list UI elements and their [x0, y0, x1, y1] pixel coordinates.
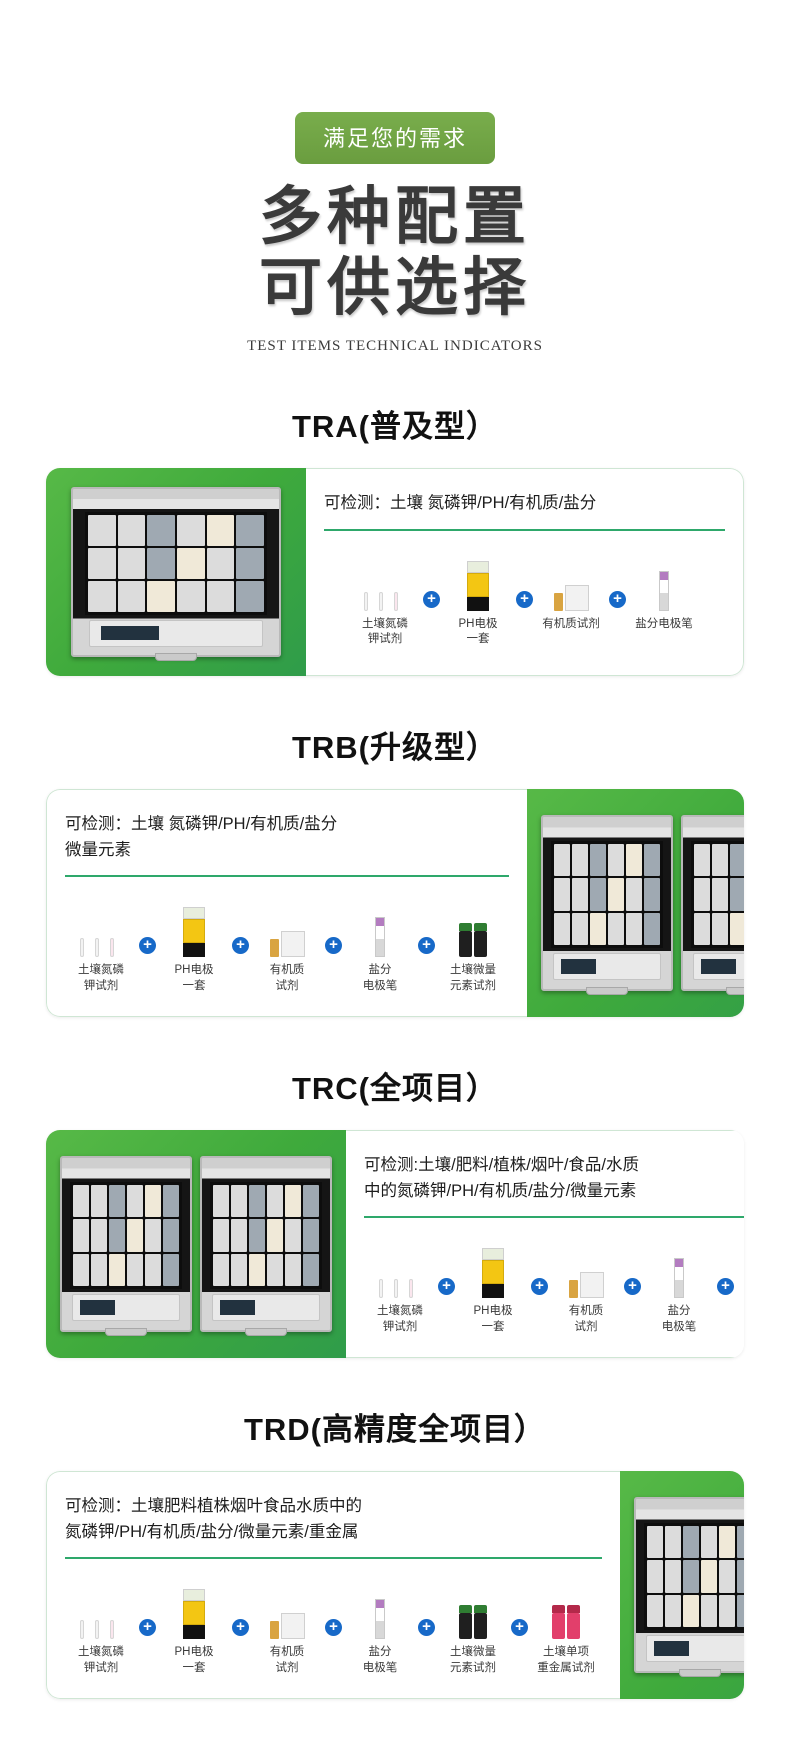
three-bottles-icon [80, 939, 123, 957]
case-slot [719, 1560, 735, 1592]
product-info-pane: 可检测:土壤/肥料/植株/烟叶/食品/水质 中的氮磷钾/PH/有机质/盐分/微量… [346, 1130, 744, 1358]
kit-item: 土壤氮磷 钾试剂 [349, 549, 421, 648]
plus-icon: + [139, 937, 156, 954]
case-slot [236, 515, 264, 546]
detection-description: 可检测：土壤肥料植株烟叶食品水质中的 氮磷钾/PH/有机质/盐分/微量元素/重金… [65, 1494, 602, 1557]
case-slot [177, 515, 205, 546]
kit-item-image [80, 895, 123, 957]
case-slot [626, 844, 642, 876]
case-slot [719, 1526, 735, 1558]
case-slot [127, 1185, 143, 1217]
case-slot [127, 1254, 143, 1286]
case-slot [608, 844, 624, 876]
case-slot [267, 1254, 283, 1286]
case-slot [303, 1219, 319, 1251]
plus-icon: + [624, 1278, 641, 1295]
case-handle [586, 987, 628, 995]
kit-item-label: 盐分 电极笔 [363, 1645, 398, 1676]
instrument-case-photo [541, 815, 673, 991]
ph-electrode-icon [183, 907, 205, 957]
kit-item-image [459, 895, 487, 957]
section-title-trd: TRD(高精度全项目） [0, 1404, 790, 1449]
case-slot [608, 913, 624, 945]
section-title-trc: TRC(全项目） [0, 1063, 790, 1108]
case-slot [231, 1254, 247, 1286]
case-slot [554, 913, 570, 945]
case-slot [730, 878, 744, 910]
kit-item-label: 土壤氮磷 钾试剂 [362, 617, 408, 648]
case-slot [590, 844, 606, 876]
kit-item-image [674, 1236, 684, 1298]
plus-icon: + [139, 1619, 156, 1636]
case-slot [683, 1595, 699, 1627]
page-title-line1: 多种配置 [259, 182, 531, 252]
case-slot [701, 1526, 717, 1558]
section-trd: TRD(高精度全项目）可检测：土壤肥料植株烟叶食品水质中的 氮磷钾/PH/有机质… [0, 1358, 790, 1699]
product-card-trc: 可检测:土壤/肥料/植株/烟叶/食品/水质 中的氮磷钾/PH/有机质/盐分/微量… [46, 1130, 744, 1358]
case-slot [207, 515, 235, 546]
plus-icon: + [511, 1619, 528, 1636]
section-tra: TRA(普及型）可检测：土壤 氮磷钾/PH/有机质/盐分土壤氮磷 钾试剂+PH电… [0, 355, 790, 676]
case-slot [665, 1560, 681, 1592]
case-slot [267, 1185, 283, 1217]
case-slot [118, 548, 146, 579]
case-slot [236, 581, 264, 612]
case-slot [554, 878, 570, 910]
case-slot [701, 1560, 717, 1592]
ph-electrode-icon [467, 561, 489, 611]
case-slot [730, 844, 744, 876]
case-slot [118, 581, 146, 612]
case-slot [147, 581, 175, 612]
kit-item-image [270, 895, 305, 957]
divider-rule [65, 1557, 602, 1559]
kit-item-label: 有机质 试剂 [270, 963, 305, 994]
kit-item-label: 土壤氮磷 钾试剂 [377, 1304, 423, 1335]
product-sections: TRA(普及型）可检测：土壤 氮磷钾/PH/有机质/盐分土壤氮磷 钾试剂+PH电… [0, 355, 790, 1699]
case-slot [249, 1254, 265, 1286]
plus-icon: + [232, 937, 249, 954]
case-slot [285, 1219, 301, 1251]
section-title-wrap-trd: TRD(高精度全项目） [0, 1358, 790, 1471]
kit-item: PH电极 一套 [158, 895, 230, 994]
kit-item-label: 盐分 电极笔 [363, 963, 398, 994]
case-slot [644, 913, 660, 945]
case-control-panel [72, 1294, 180, 1322]
product-photo-pane [46, 468, 306, 676]
case-handle [155, 653, 197, 661]
organic-reagent-icon [569, 1272, 604, 1298]
case-slot [127, 1219, 143, 1251]
salinity-pen-icon [375, 917, 385, 957]
kit-item-label: 土壤微量 元素试剂 [450, 963, 496, 994]
case-slot [163, 1219, 179, 1251]
section-trc: TRC(全项目）可检测:土壤/肥料/植株/烟叶/食品/水质 中的氮磷钾/PH/有… [0, 1017, 790, 1358]
case-slot [91, 1254, 107, 1286]
case-slot [249, 1185, 265, 1217]
three-bottles-icon [364, 593, 407, 611]
kit-item: 土壤氮磷 钾试剂 [364, 1236, 436, 1335]
kit-item: 有机质试剂 [535, 549, 607, 633]
plus-icon: + [438, 1278, 455, 1295]
kit-item-label: 土壤微量 元素试剂 [450, 1645, 496, 1676]
kit-items-row: 土壤氮磷 钾试剂+PH电极 一套+有机质 试剂+盐分 电极笔+土壤微量 元素试剂 [65, 883, 509, 1002]
divider-rule [324, 529, 725, 531]
case-slot [207, 548, 235, 579]
case-handle [105, 1328, 147, 1336]
case-tray [85, 512, 266, 615]
kit-item-image [554, 549, 589, 611]
case-slot [109, 1185, 125, 1217]
case-slot [285, 1185, 301, 1217]
case-slot [88, 548, 116, 579]
instrument-case-photo [634, 1497, 744, 1673]
instrument-case-photo [71, 487, 281, 657]
product-card-trd: 可检测：土壤肥料植株烟叶食品水质中的 氮磷钾/PH/有机质/盐分/微量元素/重金… [46, 1471, 744, 1699]
three-bottles-icon [379, 1280, 422, 1298]
case-slot [163, 1254, 179, 1286]
case-slot [712, 878, 728, 910]
case-slot [177, 581, 205, 612]
kit-items-row: 土壤氮磷 钾试剂+PH电极 一套+有机质试剂+盐分电极笔 [324, 537, 725, 661]
case-slot [647, 1595, 663, 1627]
case-handle [726, 987, 744, 995]
case-slot [694, 878, 710, 910]
plus-icon: + [418, 1619, 435, 1636]
kit-item-image [379, 1236, 422, 1298]
case-control-panel [89, 620, 262, 647]
case-slot [231, 1185, 247, 1217]
case-slot [249, 1219, 265, 1251]
kit-item-image [552, 1577, 580, 1639]
case-slot [683, 1560, 699, 1592]
case-tray [644, 1523, 744, 1630]
case-slot [590, 913, 606, 945]
case-slot [73, 1219, 89, 1251]
salinity-pen-icon [674, 1258, 684, 1298]
case-slot [737, 1560, 744, 1592]
case-slot [213, 1254, 229, 1286]
case-slot [626, 878, 642, 910]
kit-item-label: 土壤单项 重金属试剂 [537, 1645, 595, 1676]
plus-icon: + [531, 1278, 548, 1295]
kit-item-image [659, 549, 669, 611]
kit-item-image [80, 1577, 123, 1639]
section-title-wrap-trc: TRC(全项目） [0, 1017, 790, 1130]
product-photo-pane [620, 1471, 744, 1699]
case-slot [694, 913, 710, 945]
kit-item-label: PH电极 一套 [459, 617, 498, 648]
kit-item: 土壤微量 元素试剂 [437, 1577, 509, 1676]
case-slot [207, 581, 235, 612]
case-slot [665, 1526, 681, 1558]
product-card-tra: 可检测：土壤 氮磷钾/PH/有机质/盐分土壤氮磷 钾试剂+PH电极 一套+有机质… [46, 468, 744, 676]
product-photo-pane [46, 1130, 346, 1358]
case-slot [267, 1219, 283, 1251]
case-tray [691, 841, 744, 948]
case-slot [590, 878, 606, 910]
section-trb: TRB(升级型）可检测：土壤 氮磷钾/PH/有机质/盐分 微量元素土壤氮磷 钾试… [0, 676, 790, 1017]
case-slot [626, 913, 642, 945]
product-info-pane: 可检测：土壤 氮磷钾/PH/有机质/盐分土壤氮磷 钾试剂+PH电极 一套+有机质… [306, 468, 744, 676]
case-slot [647, 1526, 663, 1558]
kit-item-label: 盐分 电极笔 [662, 1304, 697, 1335]
product-info-pane: 可检测：土壤 氮磷钾/PH/有机质/盐分 微量元素土壤氮磷 钾试剂+PH电极 一… [46, 789, 527, 1017]
case-slot [683, 1526, 699, 1558]
plus-icon: + [423, 591, 440, 608]
case-slot [647, 1560, 663, 1592]
divider-rule [364, 1216, 744, 1218]
case-slot [118, 515, 146, 546]
case-slot [213, 1219, 229, 1251]
case-slot [303, 1185, 319, 1217]
section-title-trb: TRB(升级型） [0, 722, 790, 767]
kit-item-image [183, 895, 205, 957]
kit-item-image [459, 1577, 487, 1639]
kit-item-image [364, 549, 407, 611]
instrument-case-photo [200, 1156, 332, 1332]
kit-item-label: 土壤氮磷 钾试剂 [78, 963, 124, 994]
case-slot [285, 1254, 301, 1286]
case-slot [665, 1595, 681, 1627]
case-slot [213, 1185, 229, 1217]
plus-icon: + [325, 1619, 342, 1636]
case-slot [91, 1219, 107, 1251]
case-tray [210, 1182, 323, 1289]
kit-item: 有机质 试剂 [251, 1577, 323, 1676]
detection-description: 可检测:土壤/肥料/植株/烟叶/食品/水质 中的氮磷钾/PH/有机质/盐分/微量… [364, 1153, 744, 1216]
three-bottles-icon [80, 1621, 123, 1639]
case-slot [554, 844, 570, 876]
instrument-case-photo [681, 815, 744, 991]
case-slot [73, 1254, 89, 1286]
instrument-cases-pair [60, 1156, 332, 1332]
ph-electrode-icon [482, 1248, 504, 1298]
page-header: 满足您的需求 多种配置 可供选择 TEST ITEMS TECHNICAL IN… [0, 0, 790, 355]
kit-item: 盐分 电极笔 [643, 1236, 715, 1335]
organic-reagent-icon [270, 1613, 305, 1639]
kit-item-image [569, 1236, 604, 1298]
kit-item-label: 有机质试剂 [542, 617, 600, 633]
page-title-line2: 可供选择 [0, 257, 790, 320]
kit-item-label: 有机质 试剂 [569, 1304, 604, 1335]
plus-icon: + [609, 591, 626, 608]
case-slot [109, 1254, 125, 1286]
kit-item-image [467, 549, 489, 611]
case-slot [91, 1185, 107, 1217]
case-slot [712, 844, 728, 876]
case-control-panel [693, 953, 744, 981]
kit-item-label: PH电极 一套 [474, 1304, 513, 1335]
kit-item-label: 盐分电极笔 [635, 617, 693, 633]
kit-item-label: 土壤氮磷 钾试剂 [78, 1645, 124, 1676]
case-slot [644, 878, 660, 910]
case-slot [572, 913, 588, 945]
product-info-pane: 可检测：土壤肥料植株烟叶食品水质中的 氮磷钾/PH/有机质/盐分/微量元素/重金… [46, 1471, 620, 1699]
case-slot [572, 844, 588, 876]
case-control-panel [212, 1294, 320, 1322]
kit-item: PH电极 一套 [442, 549, 514, 648]
case-slot [145, 1185, 161, 1217]
section-title-wrap-tra: TRA(普及型） [0, 355, 790, 468]
case-slot [737, 1526, 744, 1558]
trace-element-bottles-icon [459, 923, 487, 957]
kit-items-row: 土壤氮磷 钾试剂+PH电极 一套+有机质 试剂+盐分 电极笔+土壤微量 元素试剂… [65, 1565, 602, 1684]
case-slot [608, 878, 624, 910]
plus-icon: + [232, 1619, 249, 1636]
case-control-panel [553, 953, 661, 981]
case-slot [163, 1185, 179, 1217]
kit-item: 土壤氮磷 钾试剂 [65, 895, 137, 994]
instrument-case-photo [60, 1156, 192, 1332]
case-slot [236, 548, 264, 579]
kit-item: 盐分电极笔 [628, 549, 700, 633]
product-photo-pane [527, 789, 744, 1017]
plus-icon: + [418, 937, 435, 954]
case-handle [679, 1669, 721, 1677]
case-slot [88, 515, 116, 546]
kit-item-image [183, 1577, 205, 1639]
detection-description: 可检测：土壤 氮磷钾/PH/有机质/盐分 [324, 491, 725, 529]
instrument-cases-pair [634, 1497, 744, 1673]
kit-item: 土壤微量 元素试剂 [736, 1236, 744, 1335]
case-control-panel [646, 1635, 744, 1663]
salinity-pen-icon [375, 1599, 385, 1639]
case-slot [701, 1595, 717, 1627]
case-slot [712, 913, 728, 945]
case-slot [737, 1595, 744, 1627]
kit-item-image [270, 1577, 305, 1639]
kit-item-image [482, 1236, 504, 1298]
case-handle [245, 1328, 287, 1336]
product-card-trb: 可检测：土壤 氮磷钾/PH/有机质/盐分 微量元素土壤氮磷 钾试剂+PH电极 一… [46, 789, 744, 1017]
case-slot [147, 548, 175, 579]
section-title-tra: TRA(普及型） [0, 401, 790, 446]
case-slot [644, 844, 660, 876]
organic-reagent-icon [270, 931, 305, 957]
header-pill-badge: 满足您的需求 [295, 112, 495, 164]
instrument-cases-pair [541, 815, 744, 991]
case-slot [88, 581, 116, 612]
kit-item-label: 有机质 试剂 [270, 1645, 305, 1676]
kit-item: 有机质 试剂 [550, 1236, 622, 1335]
kit-item: PH电极 一套 [457, 1236, 529, 1335]
page-subtitle-english: TEST ITEMS TECHNICAL INDICATORS [0, 338, 790, 355]
case-slot [147, 515, 175, 546]
divider-rule [65, 875, 509, 877]
detection-description: 可检测：土壤 氮磷钾/PH/有机质/盐分 微量元素 [65, 812, 509, 875]
case-slot [177, 548, 205, 579]
organic-reagent-icon [554, 585, 589, 611]
plus-icon: + [516, 591, 533, 608]
case-slot [303, 1254, 319, 1286]
kit-item: 盐分 电极笔 [344, 895, 416, 994]
case-slot [694, 844, 710, 876]
kit-item: 土壤微量 元素试剂 [437, 895, 509, 994]
kit-item: 有机质 试剂 [251, 895, 323, 994]
case-slot [145, 1219, 161, 1251]
case-slot [145, 1254, 161, 1286]
trace-element-bottles-icon [459, 1605, 487, 1639]
kit-item-image [375, 1577, 385, 1639]
kit-item: 土壤氮磷 钾试剂 [65, 1577, 137, 1676]
case-slot [730, 913, 744, 945]
case-tray [70, 1182, 183, 1289]
plus-icon: + [325, 937, 342, 954]
section-title-wrap-trb: TRB(升级型） [0, 676, 790, 789]
ph-electrode-icon [183, 1589, 205, 1639]
kit-item: PH电极 一套 [158, 1577, 230, 1676]
plus-icon: + [717, 1278, 734, 1295]
page-title: 多种配置 可供选择 [0, 186, 790, 320]
case-slot [719, 1595, 735, 1627]
kit-item-label: PH电极 一套 [175, 963, 214, 994]
kit-item: 盐分 电极笔 [344, 1577, 416, 1676]
heavy-metal-bottles-icon [552, 1605, 580, 1639]
case-slot [572, 878, 588, 910]
salinity-pen-icon [659, 571, 669, 611]
case-slot [73, 1185, 89, 1217]
case-slot [109, 1219, 125, 1251]
case-tray [551, 841, 664, 948]
kit-item: 土壤单项 重金属试剂 [530, 1577, 602, 1676]
kit-items-row: 土壤氮磷 钾试剂+PH电极 一套+有机质 试剂+盐分 电极笔+土壤微量 元素试剂 [364, 1224, 744, 1343]
kit-item-image [375, 895, 385, 957]
kit-item-label: PH电极 一套 [175, 1645, 214, 1676]
case-slot [231, 1219, 247, 1251]
